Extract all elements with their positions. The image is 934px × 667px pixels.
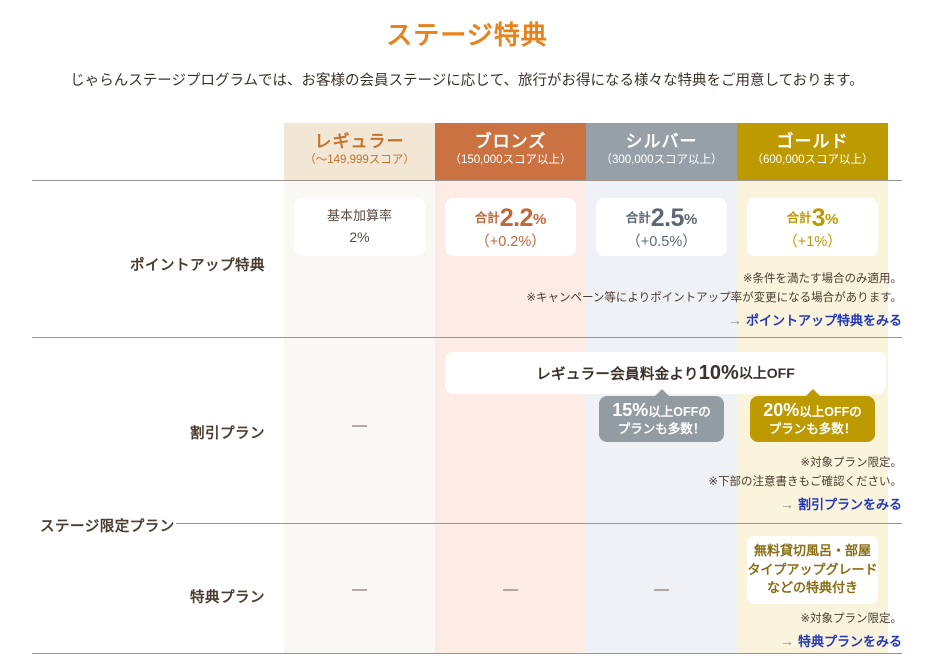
benefit-card-line3: などの特典付き xyxy=(767,579,858,598)
point-up-unit: % xyxy=(684,211,697,228)
stage-benefits-table: レギュラー （〜149,999スコア） ブロンズ （150,000スコア以上） … xyxy=(0,123,934,663)
benefit-cell-bronze: — xyxy=(435,581,586,598)
divider-header xyxy=(32,180,902,181)
point-up-prefix: 合計 xyxy=(475,211,500,225)
discount-bar-lead: レギュラー会員料金より xyxy=(536,363,699,384)
point-up-delta: （+1%） xyxy=(783,235,841,250)
column-header-name: レギュラー xyxy=(284,131,435,152)
discount-wide-bar: レギュラー会員料金より10%以上OFF xyxy=(445,352,886,394)
column-header-score: （〜149,999スコア） xyxy=(284,152,435,169)
column-header-score: （600,000スコア以上） xyxy=(737,152,888,169)
discount-badge-line2: プランも多数！ xyxy=(618,422,706,437)
column-header-name: シルバー xyxy=(586,131,737,152)
benefit-cell-regular: — xyxy=(284,581,435,598)
point-up-total: 合計2.5% xyxy=(626,205,698,231)
benefit-note-1: ※対象プラン限定。 xyxy=(800,611,902,629)
point-up-prefix: 合計 xyxy=(787,211,812,225)
page-title: ステージ特典 xyxy=(0,20,934,51)
benefit-card-line2: タイプアップグレード xyxy=(747,561,877,580)
column-header-gold: ゴールド （600,000スコア以上） xyxy=(737,123,888,180)
page-subtitle: じゃらんステージプログラムでは、お客様の会員ステージに応じて、旅行がお得になる様… xyxy=(0,71,934,91)
benefit-cell-gold: 無料貸切風呂・部屋 タイプアップグレード などの特典付き xyxy=(747,536,878,604)
arrow-right-icon: → xyxy=(728,312,742,328)
discount-badge-percent: 15% xyxy=(612,400,648,420)
point-up-prefix: 合計 xyxy=(626,211,651,225)
discount-bar-tail: 以上OFF xyxy=(739,363,795,383)
point-up-value: 2.2 xyxy=(500,204,533,232)
column-header-name: ブロンズ xyxy=(435,131,586,152)
discount-link-label[interactable]: 割引プランをみる xyxy=(798,497,902,512)
row-label-benefit-plan: 特典プラン xyxy=(40,586,265,607)
point-up-note-2: ※キャンペーン等によりポイントアップ率が変更になる場合があります。 xyxy=(526,290,902,308)
benefit-link[interactable]: →特典プランをみる xyxy=(780,631,902,650)
column-header-regular: レギュラー （〜149,999スコア） xyxy=(284,123,435,180)
discount-bar-percent: 10% xyxy=(699,362,739,385)
point-up-cell-silver: 合計2.5% （+0.5%） xyxy=(596,198,727,256)
point-up-base-label: 基本加算率 xyxy=(327,206,392,226)
point-up-base-value: 2% xyxy=(349,227,369,248)
point-up-value: 2.5 xyxy=(651,204,684,232)
point-up-link-label[interactable]: ポイントアップ特典をみる xyxy=(746,313,902,328)
point-up-cell-gold: 合計3% （+1%） xyxy=(747,198,878,256)
column-header-score: （300,000スコア以上） xyxy=(586,152,737,169)
point-up-total: 合計2.2% xyxy=(475,205,547,231)
point-up-cell-regular: 基本加算率 2% xyxy=(294,198,425,256)
point-up-delta: （+0.5%） xyxy=(626,235,697,250)
discount-badge-tail: 以上OFFの xyxy=(648,405,711,419)
discount-badge-gold: 20%以上OFFの プランも多数！ xyxy=(750,396,875,442)
benefit-cell-silver: — xyxy=(586,581,737,598)
discount-badge-line1: 20%以上OFFの xyxy=(763,400,862,422)
discount-badge-line1: 15%以上OFFの xyxy=(612,400,711,422)
point-up-cell-bronze: 合計2.2% （+0.2%） xyxy=(445,198,576,256)
point-up-unit: % xyxy=(533,211,546,228)
row-label-point-up: ポイントアップ特典 xyxy=(40,254,265,275)
discount-note-2: ※下部の注意書きもご確認ください。 xyxy=(708,474,902,492)
discount-cell-regular: — xyxy=(284,417,435,434)
point-up-note-1: ※条件を満たす場合のみ適用。 xyxy=(743,271,902,289)
point-up-delta: （+0.2%） xyxy=(475,235,546,250)
discount-link[interactable]: →割引プランをみる xyxy=(780,494,902,513)
benefit-card-line1: 無料貸切風呂・部屋 xyxy=(754,542,871,561)
point-up-total: 合計3% xyxy=(787,205,839,231)
point-up-value: 3 xyxy=(812,204,825,232)
divider-pointup-discount xyxy=(32,337,902,338)
column-header-score: （150,000スコア以上） xyxy=(435,152,586,169)
row-group-label-stage-limited: ステージ限定プラン xyxy=(40,515,175,536)
divider-bottom xyxy=(32,653,902,654)
discount-badge-line2: プランも多数！ xyxy=(769,422,857,437)
column-header-bronze: ブロンズ （150,000スコア以上） xyxy=(435,123,586,180)
discount-note-1: ※対象プラン限定。 xyxy=(800,455,902,473)
discount-badge-percent: 20% xyxy=(763,400,799,420)
discount-badge-tail: 以上OFFの xyxy=(799,405,862,419)
arrow-right-icon: → xyxy=(780,496,794,512)
divider-discount-benefit xyxy=(176,523,902,524)
row-label-discount-plan: 割引プラン xyxy=(40,422,265,443)
point-up-link[interactable]: →ポイントアップ特典をみる xyxy=(728,310,902,329)
column-header-silver: シルバー （300,000スコア以上） xyxy=(586,123,737,180)
column-header-name: ゴールド xyxy=(737,131,888,152)
discount-badge-silver: 15%以上OFFの プランも多数！ xyxy=(599,396,724,442)
point-up-unit: % xyxy=(825,211,838,228)
